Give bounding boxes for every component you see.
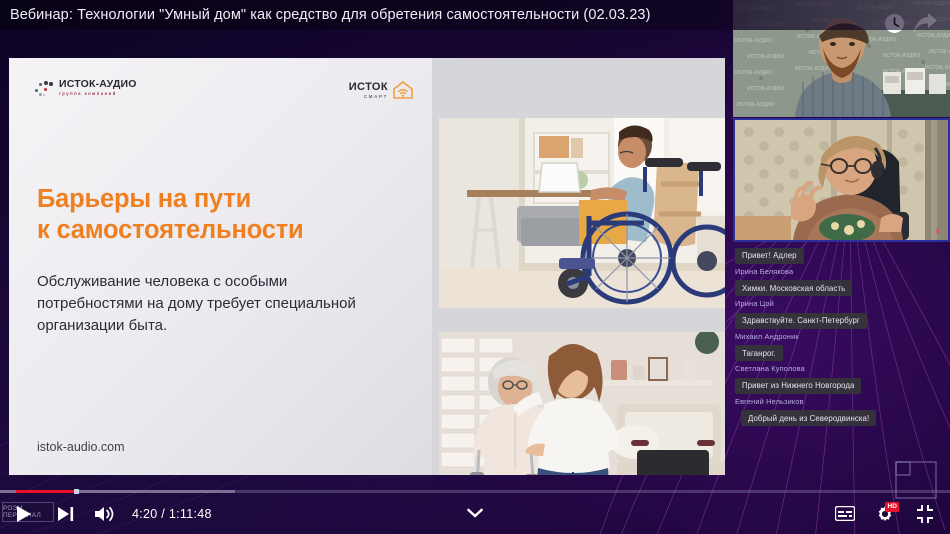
svg-text:ИСТОК-АУДИО: ИСТОК-АУДИО xyxy=(883,53,920,59)
chat-message-bubble: Добрый день из Северодвинска! xyxy=(741,410,876,426)
chat-author-name: Евгений Нельзиков xyxy=(735,397,950,406)
chat-message-bubble: Химки. Московская область xyxy=(735,280,852,296)
slide-website-url: istok-audio.com xyxy=(37,440,125,454)
time-display: 4:20 / 1:11:48 xyxy=(132,507,212,521)
chat-author-name: Ирина Цой xyxy=(735,299,950,308)
chat-message-bubble: Здравствуйте. Санкт-Петербург xyxy=(735,313,867,329)
volume-icon xyxy=(93,504,115,524)
chat-message: Ирина БеляковаХимки. Московская область xyxy=(729,267,950,297)
presenter-camera-bottom[interactable]: я xyxy=(733,118,950,242)
chat-message-bubble: Таганрог. xyxy=(735,345,783,361)
smart-home-wifi-icon xyxy=(392,80,414,100)
slide-heading-line1: Барьеры на пути xyxy=(37,184,397,215)
photo-wheelchair-desk xyxy=(439,118,725,308)
istok-audio-logo: ИСТОК-АУДИО группа компаний xyxy=(35,79,137,97)
chat-message: Привет! Адлер xyxy=(729,245,950,264)
chat-message-bubble: Привет из Нижнего Новгорода xyxy=(735,378,861,394)
next-track-icon xyxy=(55,504,75,524)
chat-message: Михаил АндроникТаганрог. xyxy=(729,332,950,362)
video-title-bar: Вебинар: Технологии "Умный дом" как сред… xyxy=(0,0,950,30)
slide-body-text: Обслуживание человека с особыми потребно… xyxy=(37,271,367,337)
svg-text:ИСТОК-АУДИО: ИСТОК-АУДИО xyxy=(747,54,784,60)
logo-left-tagline: группа компаний xyxy=(59,90,137,97)
chat-author-name: Михаил Андроник xyxy=(735,332,950,341)
chat-message-bubble: Привет! Адлер xyxy=(735,248,804,264)
volume-button[interactable] xyxy=(84,493,124,534)
slide-text-panel: ИСТОК-АУДИО группа компаний ИСТОК СМАРТ … xyxy=(9,58,432,475)
chat-message: Евгений НельзиковДобрый день из Северодв… xyxy=(729,397,950,427)
player-control-bar: РОЭН ПЕРСОНАЛ 4:20 / 1:11:48 xyxy=(0,493,950,534)
slide-heading-line2: к самостоятельности xyxy=(37,215,397,246)
page-title: Вебинар: Технологии "Умный дом" как сред… xyxy=(10,7,651,23)
svg-text:ИСТОК-АУДИО: ИСТОК-АУДИО xyxy=(735,38,772,44)
svg-text:ИСТОК-АУДИО: ИСТОК-АУДИО xyxy=(795,66,832,72)
slide-heading: Барьеры на пути к самостоятельности xyxy=(37,184,397,246)
chat-author-name: Светлана Куполова xyxy=(735,364,950,373)
svg-text:ИСТОК-АУДИО: ИСТОК-АУДИО xyxy=(747,86,784,92)
play-button[interactable]: РОЭН ПЕРСОНАЛ xyxy=(0,493,46,534)
chat-message: Светлана КуполоваПривет из Нижнего Новго… xyxy=(729,364,950,394)
svg-text:ИСТОК-АУДИО: ИСТОК-АУДИО xyxy=(929,49,950,55)
svg-text:я: я xyxy=(935,226,940,236)
presentation-slide: ИСТОК-АУДИО группа компаний ИСТОК СМАРТ … xyxy=(9,58,725,475)
video-player-page: Вебинар: Технологии "Умный дом" как сред… xyxy=(0,0,950,534)
photo-caregiver-elderly xyxy=(439,332,725,475)
logo-dots-icon xyxy=(35,80,54,96)
logo-right-name: ИСТОК xyxy=(349,81,388,93)
svg-text:ИСТОК-АУДИО: ИСТОК-АУДИО xyxy=(735,70,772,76)
chat-message: Ирина ЦойЗдравствуйте. Санкт-Петербург xyxy=(729,299,950,329)
svg-text:ИСТОК-АУДИО: ИСТОК-АУДИО xyxy=(925,65,950,71)
logo-right-tagline: СМАРТ xyxy=(349,93,388,100)
svg-text:ИСТОК-АУДИО: ИСТОК-АУДИО xyxy=(737,102,774,108)
chat-author-name: Ирина Белякова xyxy=(735,267,950,276)
logo-left-name: ИСТОК-АУДИО xyxy=(59,79,137,90)
play-icon xyxy=(11,502,35,526)
chat-message-list[interactable]: Привет! АдлерИрина БеляковаХимки. Москов… xyxy=(729,245,950,495)
istok-smart-logo: ИСТОК СМАРТ xyxy=(349,80,414,100)
